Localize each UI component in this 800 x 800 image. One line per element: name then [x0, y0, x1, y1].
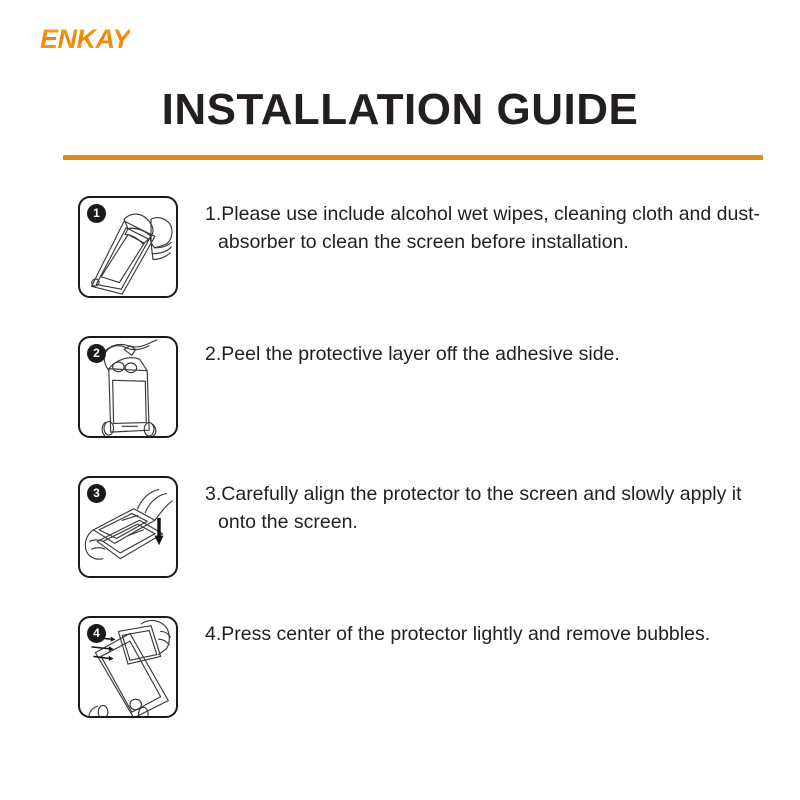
step-item: 2 2.Peel the protective layer off the ad…: [0, 336, 800, 476]
step-3-illustration-panel: 3: [78, 476, 178, 578]
step-4-illustration-panel: 4: [78, 616, 178, 718]
step-item: 3 3.Carefully align the protector to the…: [0, 476, 800, 616]
title-divider: [63, 155, 763, 160]
brand-logo: ENKAY: [40, 26, 130, 53]
step-2-illustration-panel: 2: [78, 336, 178, 438]
step-1-illustration-panel: 1: [78, 196, 178, 298]
step-number-badge: 4: [87, 624, 106, 643]
down-arrow-icon: [154, 518, 163, 545]
step-item: 1 1.Please use include alcohol wet wipes…: [0, 196, 800, 336]
step-4-text: 4.Press center of the protector lightly …: [205, 620, 763, 648]
page-title: INSTALLATION GUIDE: [0, 86, 800, 134]
step-1-text: 1.Please use include alcohol wet wipes, …: [205, 200, 763, 256]
step-3-text: 3.Carefully align the protector to the s…: [205, 480, 770, 536]
step-number-badge: 3: [87, 484, 106, 503]
step-item: 4 4.Press center of the protector lightl…: [0, 616, 800, 746]
steps-list: 1 1.Please use include alcohol wet wipes…: [0, 196, 800, 746]
step-2-text: 2.Peel the protective layer off the adhe…: [205, 340, 763, 368]
step-number-badge: 2: [87, 344, 106, 363]
step-number-badge: 1: [87, 204, 106, 223]
